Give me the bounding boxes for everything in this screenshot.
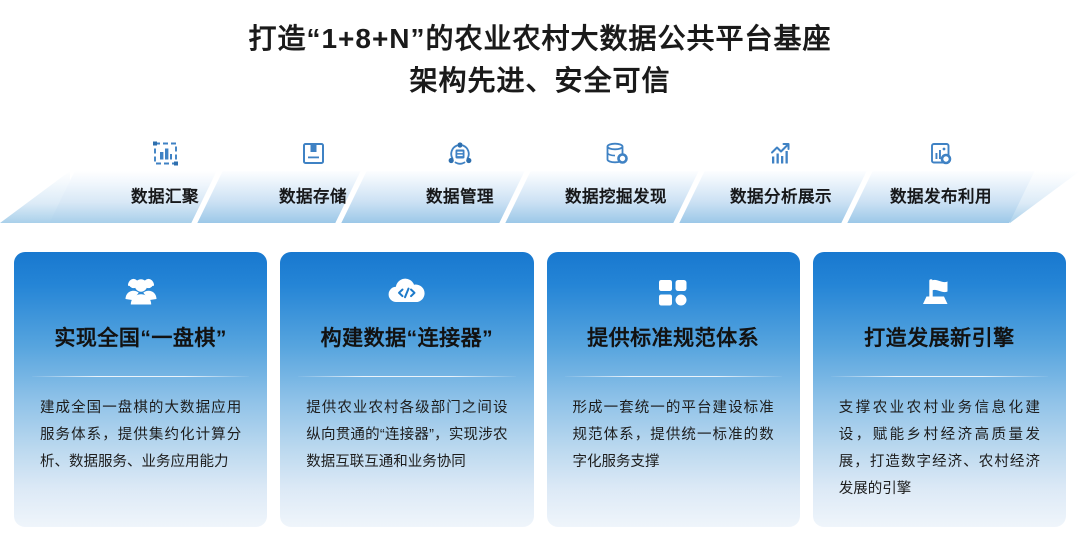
card-divider (298, 376, 515, 377)
feature-card-title: 打造发展新引擎 (813, 322, 1066, 352)
process-step-label: 数据分析展示 (700, 183, 862, 207)
process-ribbon: 数据汇聚 数据存储 数据管理 (0, 133, 1080, 231)
feature-card-body: 提供农业农村各级部门之间设纵向贯通的“连接器”，实现涉农数据互联互通和业务协同 (306, 395, 507, 476)
process-step-3[interactable]: 数据管理 (390, 133, 530, 231)
database-gear-icon (535, 133, 697, 169)
bar-chart-frame-icon (95, 133, 235, 169)
feature-card-2[interactable]: 构建数据“连接器” 提供农业农村各级部门之间设纵向贯通的“连接器”，实现涉农数据… (280, 252, 533, 527)
process-step-4[interactable]: 数据挖掘发现 (535, 133, 697, 231)
flag-icon (813, 252, 1066, 320)
feature-card-title: 构建数据“连接器” (280, 322, 533, 352)
floppy-disk-icon (243, 133, 383, 169)
report-gear-icon (860, 133, 1022, 169)
cloud-code-icon (280, 252, 533, 320)
card-divider (32, 376, 249, 377)
page-title-line-2: 架构先进、安全可信 (0, 60, 1080, 102)
page-title-line-1: 打造“1+8+N”的农业农村大数据公共平台基座 (0, 18, 1080, 60)
feature-cards: 实现全国“一盘棋” 建成全国一盘棋的大数据应用服务体系，提供集约化计算分析、数据… (14, 252, 1066, 527)
feature-card-body: 建成全国一盘棋的大数据应用服务体系，提供集约化计算分析、数据服务、业务应用能力 (40, 395, 241, 476)
feature-card-1[interactable]: 实现全国“一盘棋” 建成全国一盘棋的大数据应用服务体系，提供集约化计算分析、数据… (14, 252, 267, 527)
page-title: 打造“1+8+N”的农业农村大数据公共平台基座 架构先进、安全可信 (0, 0, 1080, 102)
process-step-label: 数据发布利用 (860, 183, 1022, 207)
feature-card-title: 实现全国“一盘棋” (14, 322, 267, 352)
feature-card-4[interactable]: 打造发展新引擎 支撑农业农村业务信息化建设，赋能乡村经济高质量发展，打造数字经济… (813, 252, 1066, 527)
process-step-5[interactable]: 数据分析展示 (700, 133, 862, 231)
process-step-label: 数据汇聚 (95, 183, 235, 207)
process-step-label: 数据挖掘发现 (535, 183, 697, 207)
people-group-icon (14, 252, 267, 320)
process-step-2[interactable]: 数据存储 (243, 133, 383, 231)
process-step-label: 数据管理 (390, 183, 530, 207)
grid-blocks-icon (547, 252, 800, 320)
feature-card-title: 提供标准规范体系 (547, 322, 800, 352)
process-step-6[interactable]: 数据发布利用 (860, 133, 1022, 231)
feature-card-body: 支撑农业农村业务信息化建设，赋能乡村经济高质量发展，打造数字经济、农村经济发展的… (839, 395, 1040, 503)
feature-card-3[interactable]: 提供标准规范体系 形成一套统一的平台建设标准规范体系，提供统一标准的数字化服务支… (547, 252, 800, 527)
trend-chart-icon (700, 133, 862, 169)
network-nodes-icon (390, 133, 530, 169)
process-step-label: 数据存储 (243, 183, 383, 207)
card-divider (831, 376, 1048, 377)
feature-card-body: 形成一套统一的平台建设标准规范体系，提供统一标准的数字化服务支撑 (573, 395, 774, 476)
process-step-1[interactable]: 数据汇聚 (95, 133, 235, 231)
card-divider (565, 376, 782, 377)
